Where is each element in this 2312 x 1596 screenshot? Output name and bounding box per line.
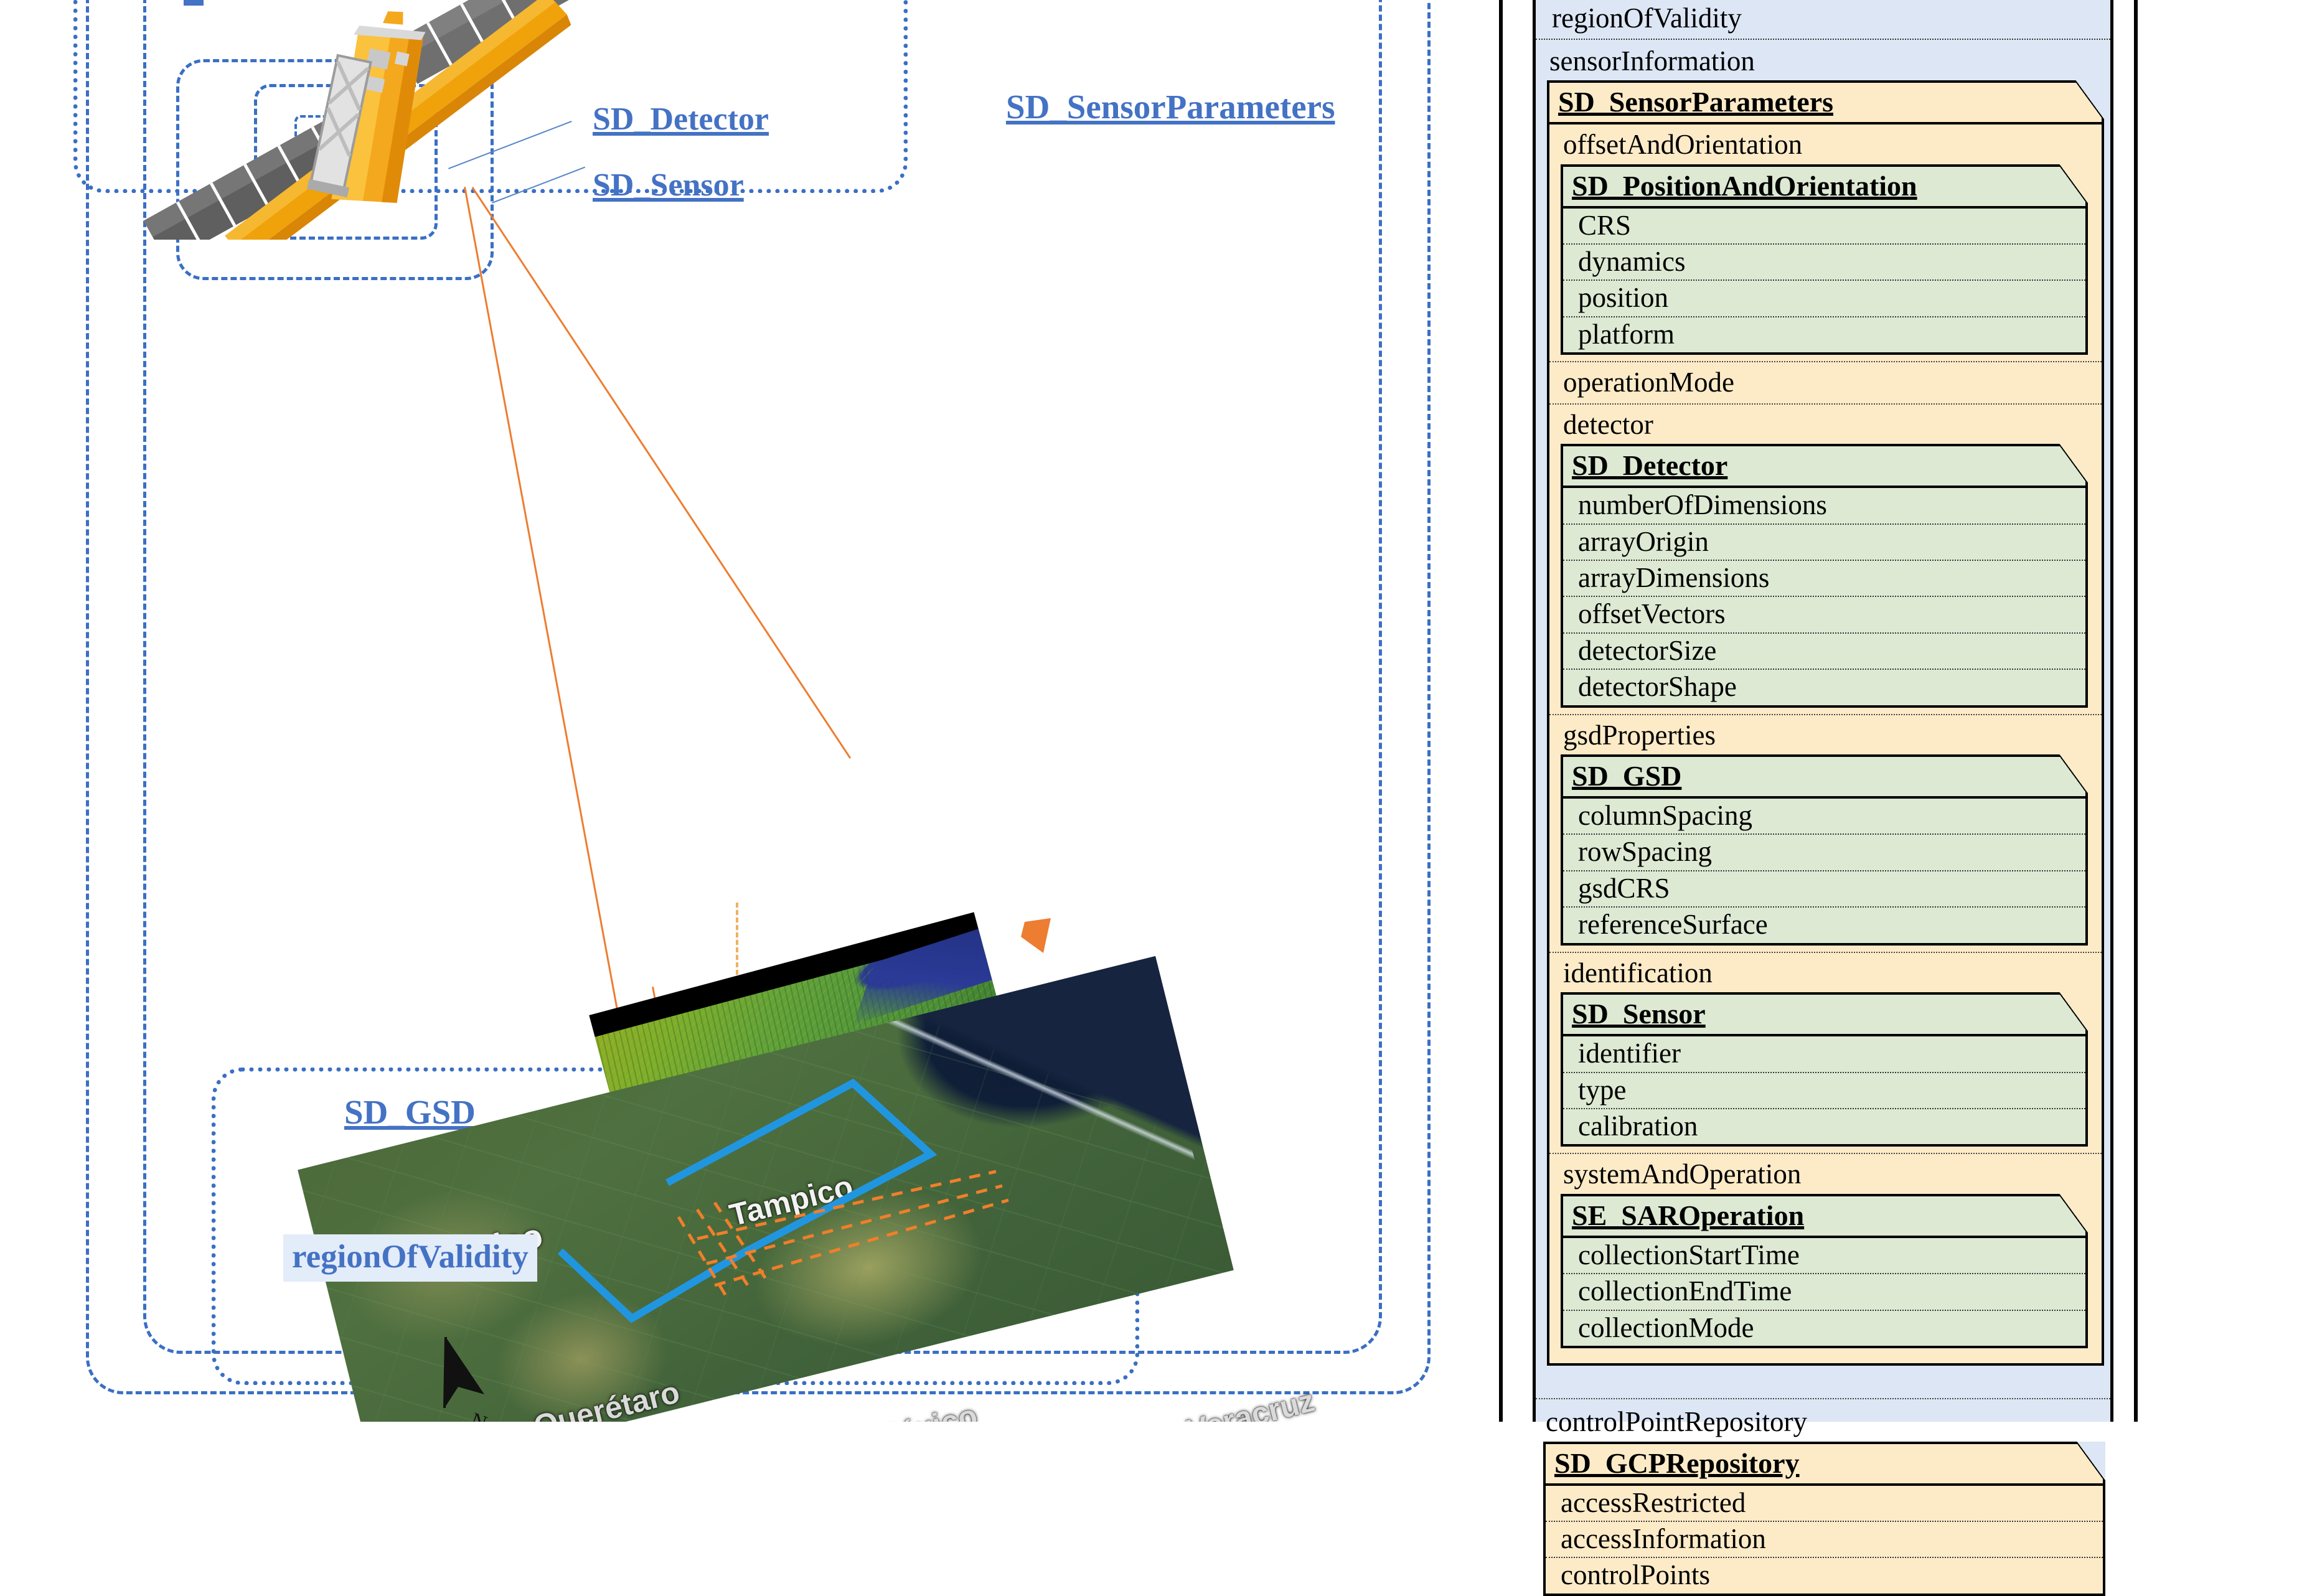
sensor-model-illustration: SD_Detector SD_Sensor SD_SensorParameter… bbox=[0, 0, 1494, 1422]
uml-attribute[interactable]: detectorShape bbox=[1563, 669, 2085, 705]
uml-class-sd-positionandorientation[interactable]: SD_PositionAndOrientation CRS dynamics p… bbox=[1561, 164, 2088, 355]
uml-field-offset-and-orientation[interactable]: offsetAndOrientation bbox=[1549, 127, 2102, 164]
uml-class-sd-detector[interactable]: SD_Detector numberOfDimensions arrayOrig… bbox=[1561, 444, 2088, 707]
uml-field-detector[interactable]: detector bbox=[1549, 407, 2102, 444]
satellite-illustration bbox=[112, 0, 672, 240]
uml-attribute[interactable]: detectorSize bbox=[1563, 632, 2085, 669]
uml-class-se-saroperation[interactable]: SE_SAROperation collectionStartTime coll… bbox=[1561, 1194, 2088, 1348]
label-sd-sensorparameters: SD_SensorParameters bbox=[1006, 87, 1335, 126]
uml-class-name-sd-gsd: SD_GSD bbox=[1572, 760, 1681, 792]
uml-attribute[interactable]: collectionStartTime bbox=[1563, 1238, 2085, 1273]
north-arrow-icon: N bbox=[431, 1333, 505, 1422]
label-sd-sensor: SD_Sensor bbox=[593, 167, 744, 204]
label-sd-detector: SD_Detector bbox=[593, 101, 769, 138]
uml-slot-offset-and-orientation: offsetAndOrientation SD_PositionAndOrien… bbox=[1549, 124, 2102, 362]
uml-field-system-and-operation[interactable]: systemAndOperation bbox=[1549, 1157, 2102, 1194]
uml-attribute-list: numberOfDimensions arrayOrigin arrayDime… bbox=[1563, 488, 2085, 705]
folded-corner-icon bbox=[2059, 164, 2088, 204]
svg-text:N: N bbox=[468, 1409, 490, 1422]
uml-field-control-point-repository[interactable]: controlPointRepository bbox=[1536, 1404, 2110, 1442]
label-region-of-validity: regionOfValidity bbox=[283, 1234, 537, 1282]
map-label-ciudad-de-mexico: Ciudad de México bbox=[715, 1397, 980, 1422]
uml-class-name-sd-sensorparameters: SD_SensorParameters bbox=[1558, 86, 1833, 118]
uml-class-name-sd-detector: SD_Detector bbox=[1572, 449, 1727, 481]
uml-class-name-sd-sensor: SD_Sensor bbox=[1572, 998, 1706, 1030]
uml-field-operation-mode[interactable]: operationMode bbox=[1549, 362, 2102, 405]
folded-corner-icon bbox=[2059, 444, 2088, 483]
uml-attribute[interactable]: offsetVectors bbox=[1563, 596, 2085, 632]
uml-attribute[interactable]: referenceSurface bbox=[1563, 906, 2085, 942]
uml-attribute[interactable]: position bbox=[1563, 279, 2085, 316]
ray-arrowhead-right bbox=[1021, 918, 1077, 968]
uml-class-header-sd-sensor[interactable]: SD_Sensor bbox=[1563, 995, 2085, 1036]
uml-slot-sensor-information: sensorInformation SD_SensorParameters of… bbox=[1536, 40, 2110, 1366]
uml-class-sd-sensor[interactable]: SD_Sensor identifier type calibration bbox=[1561, 992, 2088, 1147]
uml-attribute[interactable]: rowSpacing bbox=[1563, 833, 2085, 870]
uml-attribute[interactable]: accessInformation bbox=[1546, 1521, 2103, 1557]
uml-slot-divider bbox=[1536, 1366, 2110, 1399]
uml-attribute[interactable]: platform bbox=[1563, 316, 2085, 352]
uml-class-name-se-saroperation: SE_SAROperation bbox=[1572, 1199, 1804, 1231]
uml-attribute-list: accessRestricted accessInformation contr… bbox=[1546, 1486, 2103, 1594]
uml-attribute[interactable]: columnSpacing bbox=[1563, 799, 2085, 833]
panel-left-rule bbox=[1499, 0, 1503, 1422]
uml-structure-panel: regionOfValidity sensorInformation SD_Se… bbox=[1499, 0, 2312, 1422]
uml-class-sd-gsd[interactable]: SD_GSD columnSpacing rowSpacing gsdCRS r… bbox=[1561, 754, 2088, 946]
uml-class-header-sd-gsd[interactable]: SD_GSD bbox=[1563, 757, 2085, 799]
uml-class-sd-sensorparameters[interactable]: SD_SensorParameters offsetAndOrientation… bbox=[1547, 80, 2104, 1366]
uml-attribute[interactable]: arrayOrigin bbox=[1563, 523, 2085, 560]
folded-corner-icon bbox=[2059, 1194, 2088, 1233]
uml-slot-gsd-properties: gsdProperties SD_GSD columnSpacing rowSp… bbox=[1549, 715, 2102, 953]
uml-slot-detector: detector SD_Detector numberOfDimensions … bbox=[1549, 405, 2102, 715]
uml-attribute[interactable]: arrayDimensions bbox=[1563, 560, 2085, 596]
uml-class-name-sd-positionandorientation: SD_PositionAndOrientation bbox=[1572, 170, 1917, 202]
uml-class-header-sd-detector[interactable]: SD_Detector bbox=[1563, 446, 2085, 488]
uml-field-gsd-properties[interactable]: gsdProperties bbox=[1549, 718, 2102, 755]
folded-corner-icon bbox=[2077, 1442, 2105, 1481]
uml-class-sd-gcprepository[interactable]: SD_GCPRepository accessRestricted access… bbox=[1543, 1442, 2105, 1596]
uml-slot-identification: identification SD_Sensor identifier type… bbox=[1549, 953, 2102, 1155]
uml-root-class-body: regionOfValidity sensorInformation SD_Se… bbox=[1533, 0, 2113, 1422]
uml-class-name-sd-gcprepository: SD_GCPRepository bbox=[1554, 1447, 1800, 1479]
folded-corner-icon bbox=[2075, 80, 2104, 120]
uml-attribute[interactable]: calibration bbox=[1563, 1108, 2085, 1144]
uml-field-identification[interactable]: identification bbox=[1549, 955, 2102, 993]
uml-field-sensor-information[interactable]: sensorInformation bbox=[1536, 44, 2110, 81]
uml-attribute-list: columnSpacing rowSpacing gsdCRS referenc… bbox=[1563, 799, 2085, 943]
uml-attribute[interactable]: controlPoints bbox=[1546, 1557, 2103, 1593]
uml-class-header-sd-sensorparameters[interactable]: SD_SensorParameters bbox=[1549, 83, 2102, 124]
uml-attribute-list: CRS dynamics position platform bbox=[1563, 209, 2085, 353]
uml-field-region-of-validity[interactable]: regionOfValidity bbox=[1536, 0, 2110, 40]
uml-attribute[interactable]: gsdCRS bbox=[1563, 870, 2085, 906]
uml-class-header-sd-gcprepository[interactable]: SD_GCPRepository bbox=[1546, 1444, 2103, 1486]
folded-corner-icon bbox=[2059, 992, 2088, 1031]
uml-attribute[interactable]: collectionMode bbox=[1563, 1310, 2085, 1346]
uml-attribute-list: identifier type calibration bbox=[1563, 1036, 2085, 1144]
map-label-veracruz: Veracruz bbox=[1183, 1382, 1318, 1422]
uml-attribute[interactable]: identifier bbox=[1563, 1036, 2085, 1071]
uml-attribute[interactable]: accessRestricted bbox=[1546, 1486, 2103, 1521]
panel-right-rule bbox=[2134, 0, 2138, 1422]
uml-slot-control-point-repository: controlPointRepository SD_GCPRepository … bbox=[1536, 1399, 2110, 1596]
uml-attribute[interactable]: type bbox=[1563, 1072, 2085, 1108]
uml-class-header-sd-positionandorientation[interactable]: SD_PositionAndOrientation bbox=[1563, 167, 2085, 209]
uml-attribute[interactable]: numberOfDimensions bbox=[1563, 488, 2085, 523]
folded-corner-icon bbox=[2059, 754, 2088, 794]
uml-slot-system-and-operation: systemAndOperation SE_SAROperation colle… bbox=[1549, 1154, 2102, 1363]
uml-attribute-list: collectionStartTime collectionEndTime co… bbox=[1563, 1238, 2085, 1346]
uml-class-header-se-saroperation[interactable]: SE_SAROperation bbox=[1563, 1196, 2085, 1238]
uml-attribute[interactable]: dynamics bbox=[1563, 243, 2085, 279]
uml-attribute[interactable]: collectionEndTime bbox=[1563, 1273, 2085, 1309]
uml-attribute[interactable]: CRS bbox=[1563, 209, 2085, 243]
